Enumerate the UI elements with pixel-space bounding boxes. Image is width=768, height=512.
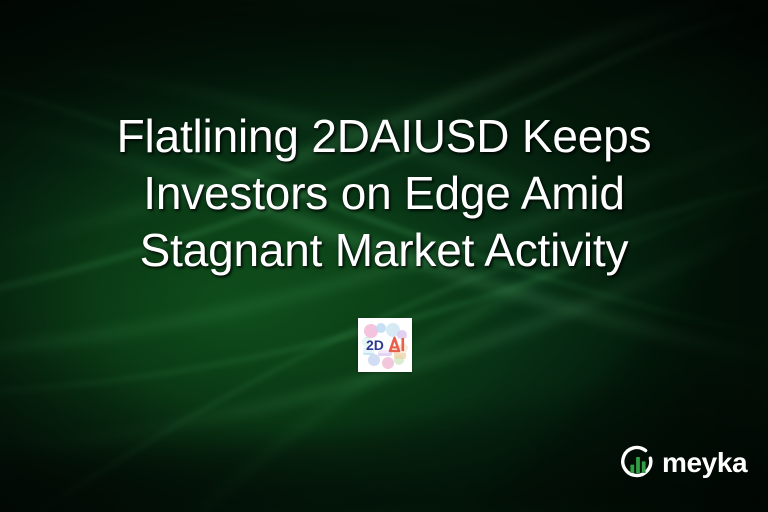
- svg-text:2D: 2D: [366, 337, 384, 353]
- headline-line-1: Flatlining 2DAIUSD Keeps: [28, 108, 740, 165]
- headline-block: Flatlining 2DAIUSD Keeps Investors on Ed…: [0, 108, 768, 279]
- meyka-brand-logo: meyka: [618, 443, 747, 483]
- headline-line-3: Stagnant Market Activity: [28, 222, 740, 279]
- asset-logo-2dai: 2D: [358, 318, 412, 372]
- news-banner-slide: Flatlining 2DAIUSD Keeps Investors on Ed…: [0, 0, 768, 512]
- brand-wordmark: meyka: [662, 449, 747, 478]
- headline-line-2: Investors on Edge Amid: [28, 165, 740, 222]
- circle-bar-chart-icon: [618, 443, 658, 483]
